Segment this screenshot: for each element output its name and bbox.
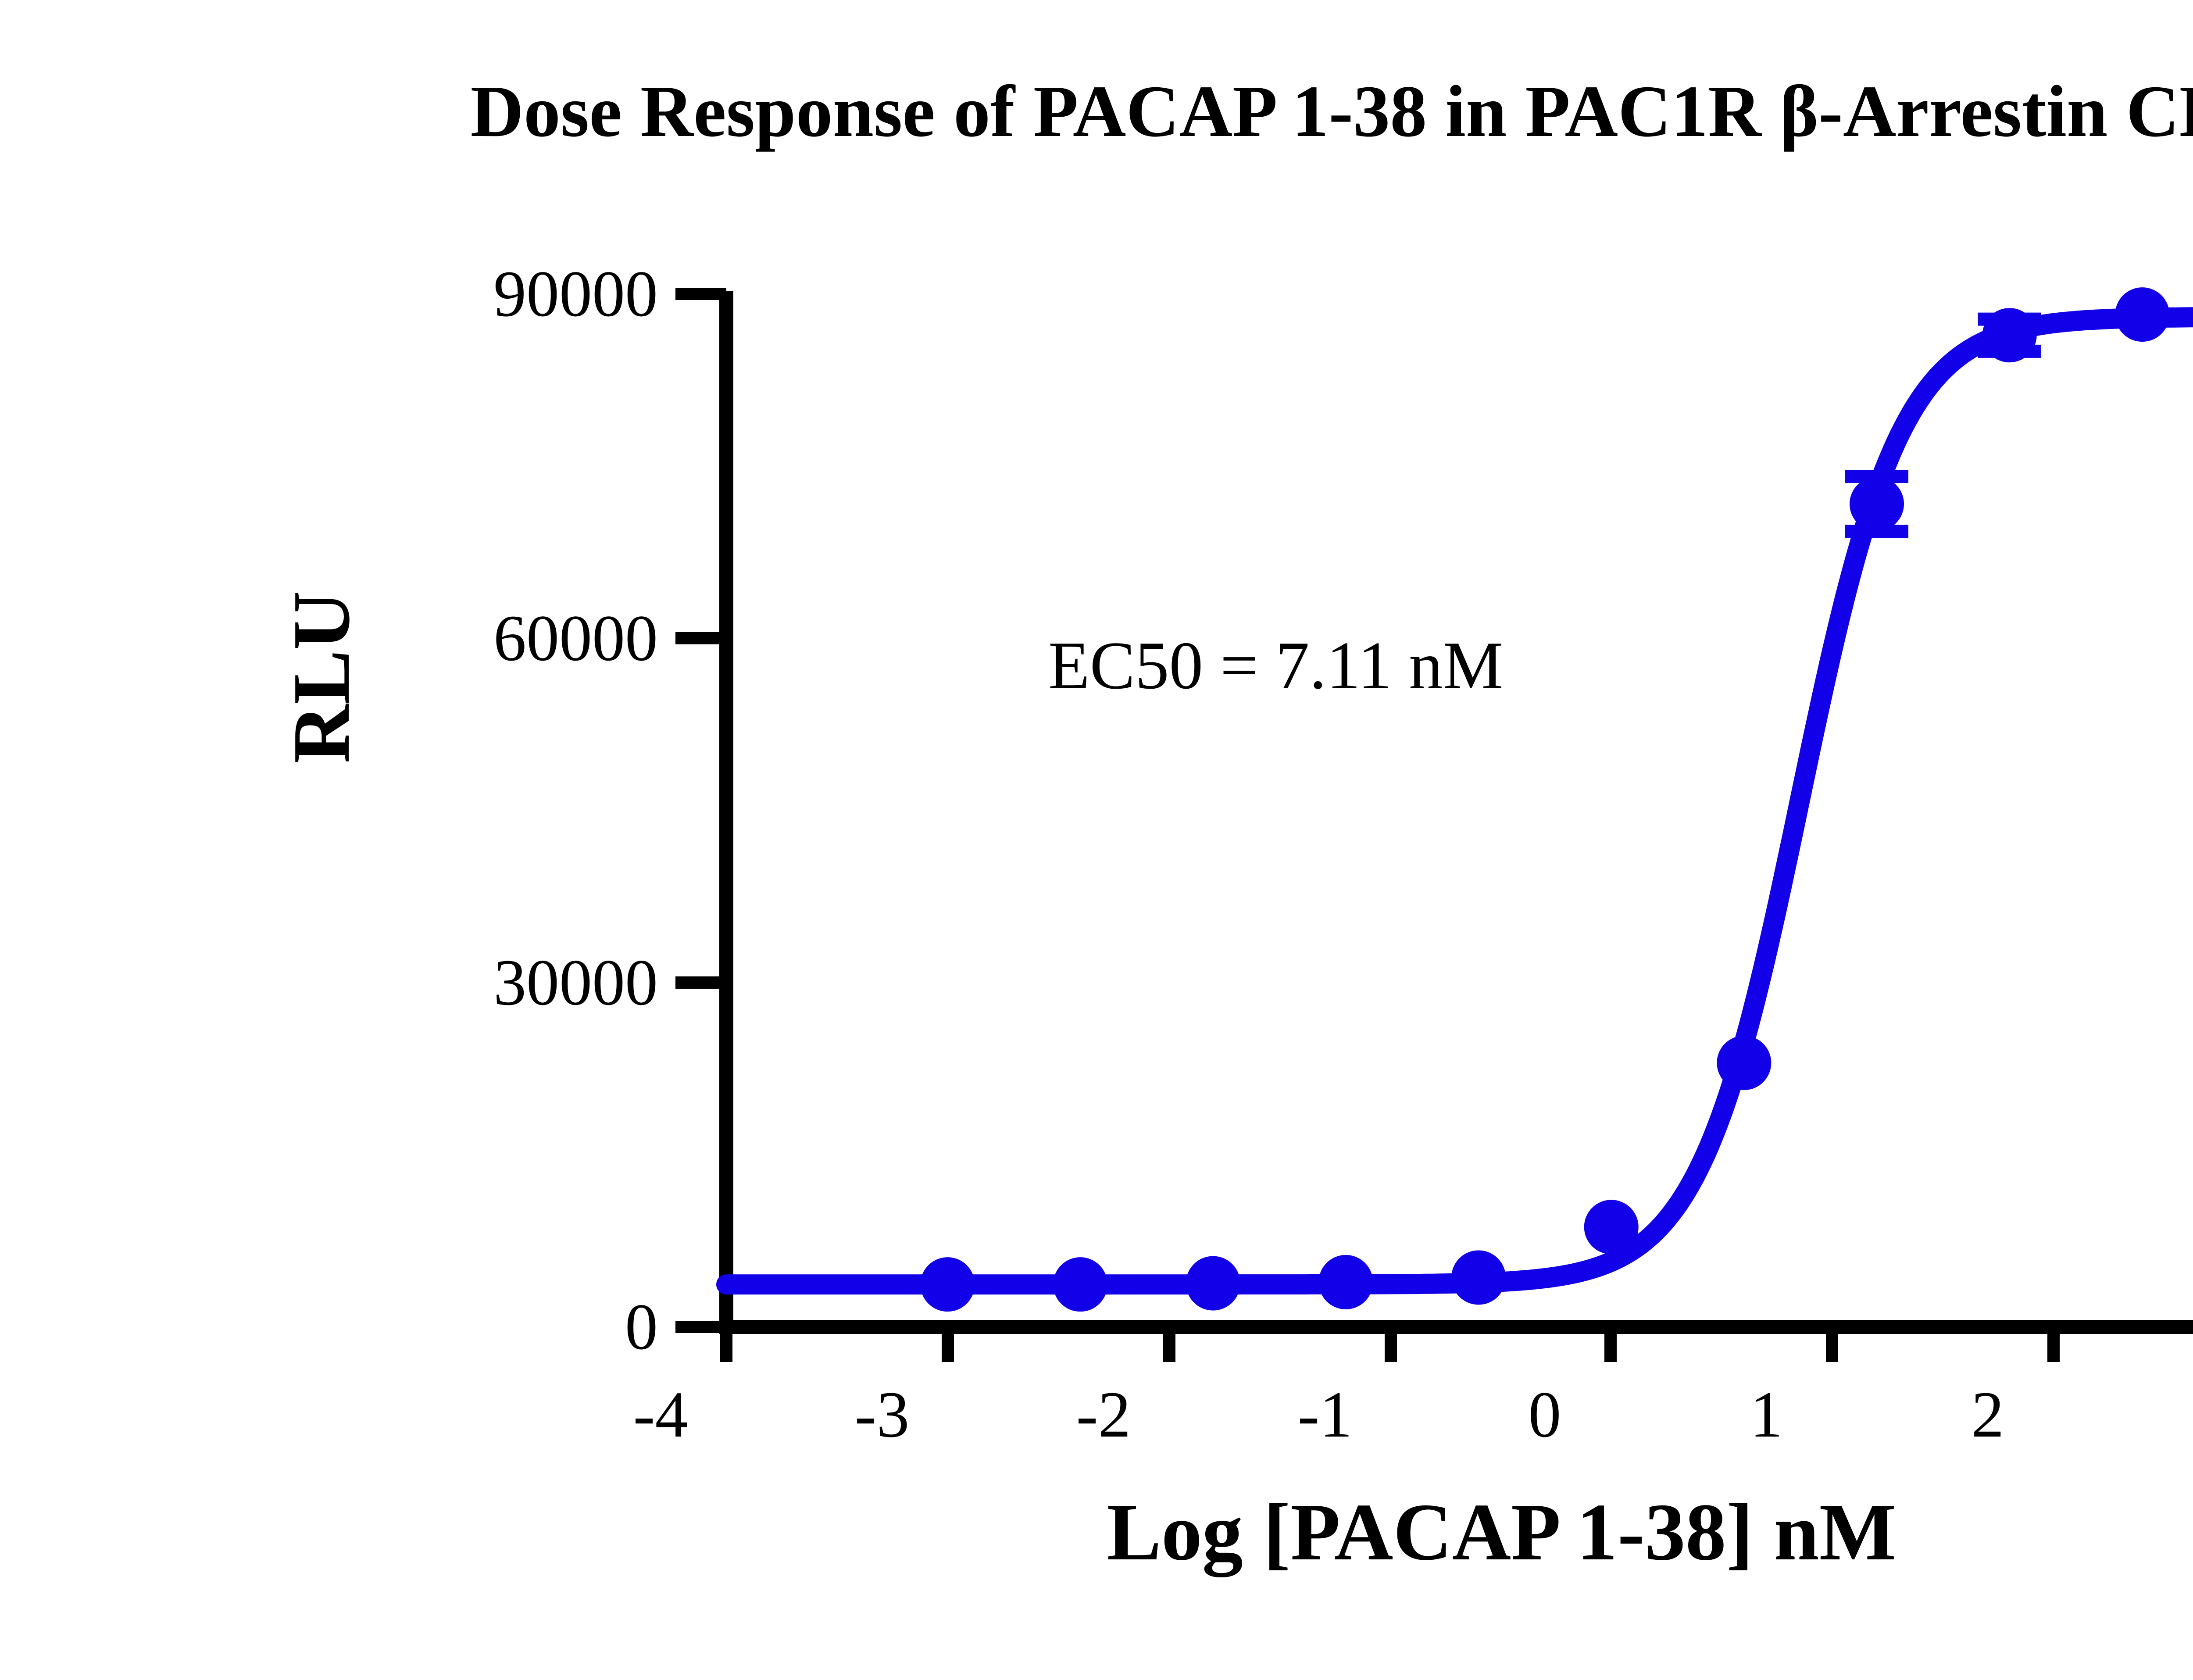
data-point-marker [1717, 1036, 1771, 1090]
data-series-group [726, 287, 2193, 1312]
data-point-marker [920, 1257, 975, 1312]
data-point-marker [1451, 1250, 1506, 1305]
chart-figure: Dose Response of PACAP 1-38 in PAC1R β-A… [0, 0, 2193, 1680]
plot-area [0, 0, 2193, 1680]
data-point-marker [1850, 477, 1904, 531]
fit-curve [726, 317, 2193, 1285]
data-point-marker [1982, 308, 2037, 362]
data-point-marker [1053, 1257, 1107, 1312]
data-point-marker [2115, 287, 2169, 342]
data-point-marker [1318, 1255, 1373, 1309]
data-point-marker [1186, 1256, 1240, 1311]
data-point-marker [1584, 1200, 1639, 1254]
axes-group [675, 291, 2193, 1362]
